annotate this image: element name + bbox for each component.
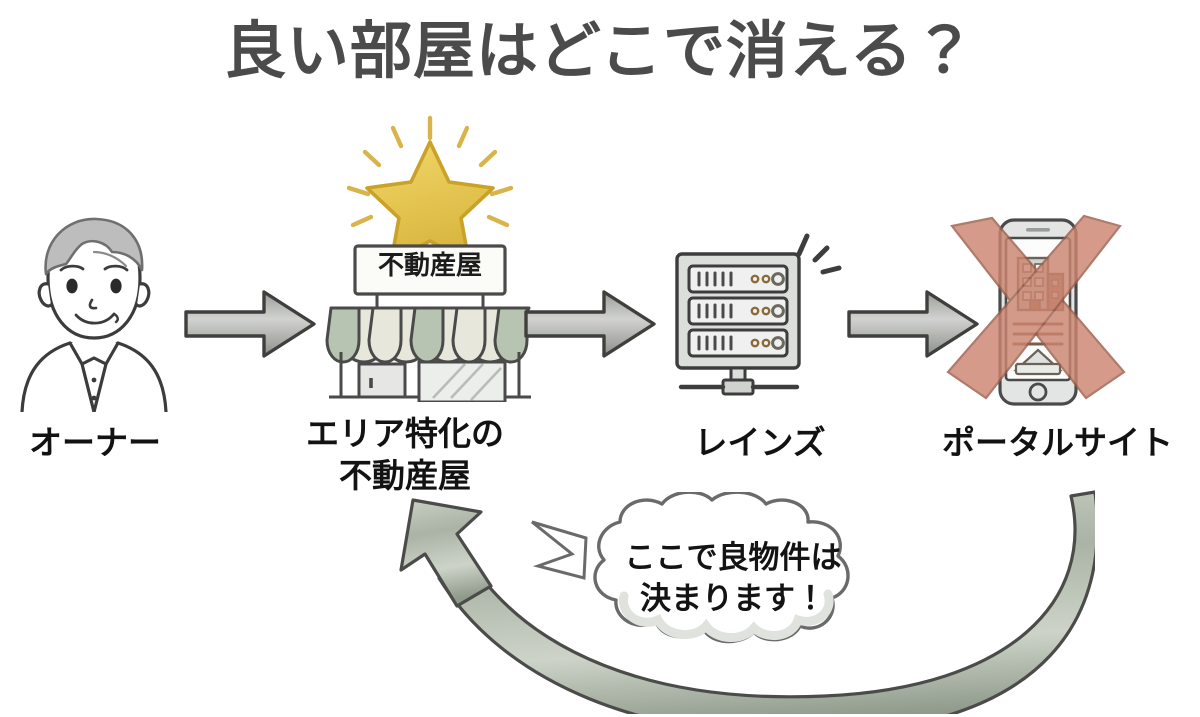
right-arrow-icon [182,284,318,364]
node-label-owner: オーナー [0,422,190,464]
page-title: 良い部屋はどこで消える？ [0,18,1200,86]
portal-illustration [938,212,1134,417]
infographic-canvas: 良い部屋はどこで消える？ [0,0,1200,717]
eye-left [66,279,77,294]
star-icon [367,142,493,262]
owner-illustration [8,212,180,417]
person-avatar-icon [8,212,180,412]
node-label-portal: ポータルサイト [915,422,1200,464]
server-rack-icon [655,222,855,402]
spark-lines-icon [799,236,839,272]
node-label-reins: レインズ [625,422,895,464]
flow-arrow-1 [182,284,318,369]
right-arrow-icon [522,284,658,364]
eye-right [110,279,121,294]
flow-arrow-2 [522,284,658,369]
speech-bubble: ここで良物件は 決まります！ [528,492,928,657]
reins-illustration [655,222,855,407]
shop-sign-text: 不動産屋 [355,252,505,278]
shop-illustration: 不動産屋 [315,112,545,407]
cloud-bubble-icon [528,492,928,652]
